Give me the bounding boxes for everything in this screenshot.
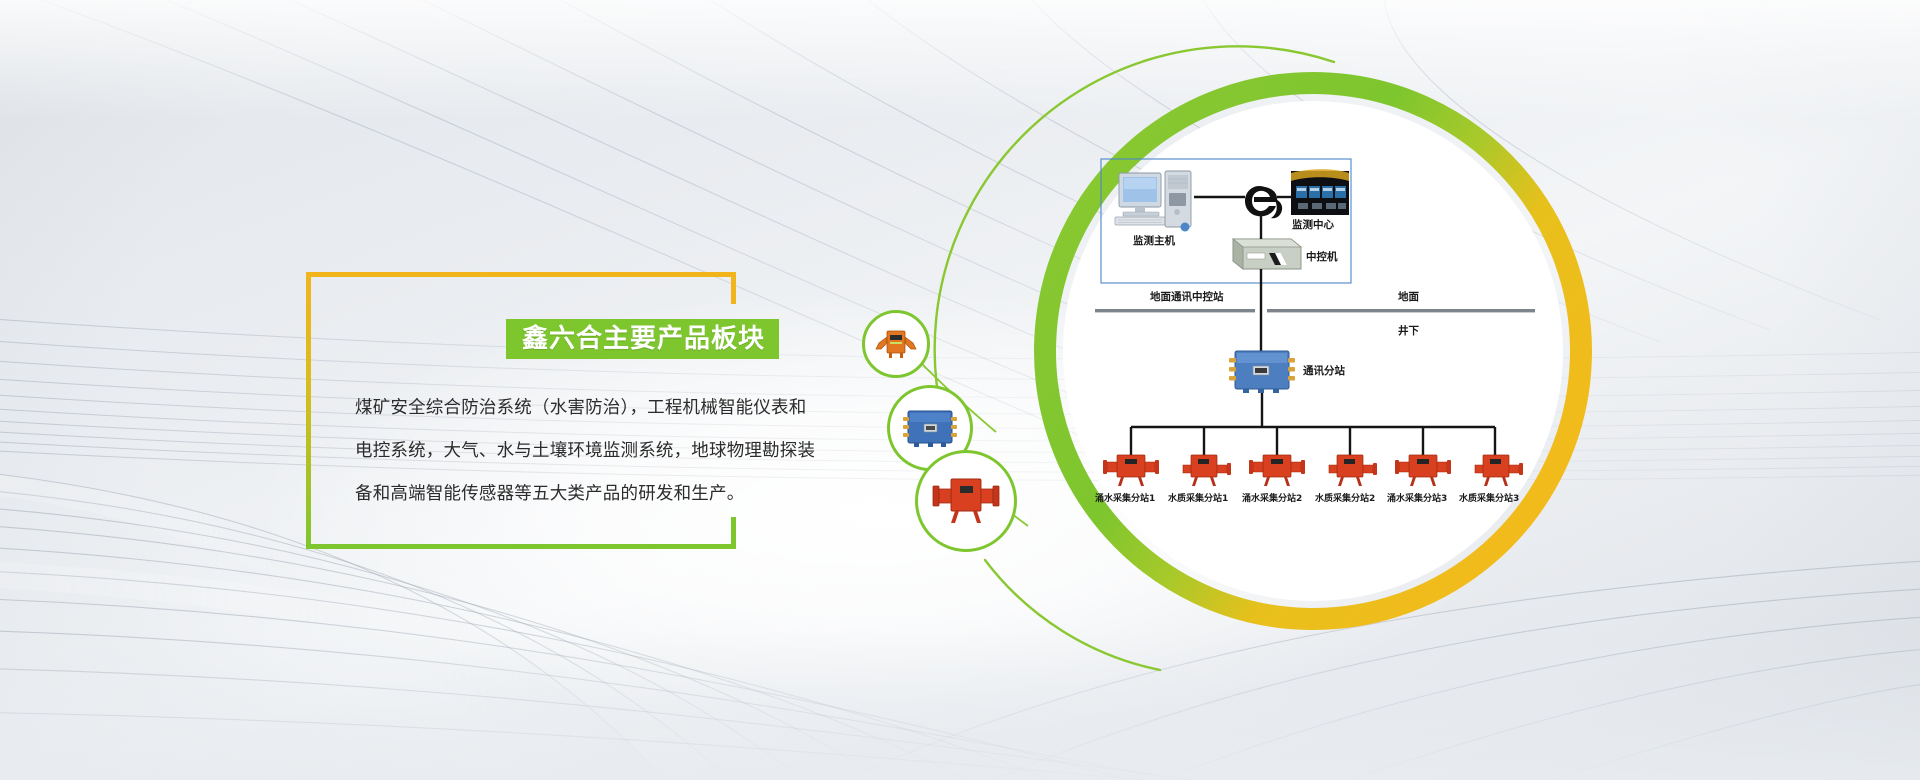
label-monitor-host: 监测主机 bbox=[1133, 233, 1175, 248]
label-substation-3: 涌水采集分站2 bbox=[1242, 491, 1302, 504]
panel-body-copy: 煤矿安全综合防治系统（水害防治），工程机械智能仪表和 电控系统，大气、水与土壤环… bbox=[355, 387, 885, 516]
page-title: 鑫六合主要产品板块 bbox=[522, 326, 765, 352]
body-line-1: 煤矿安全综合防治系统（水害防治），工程机械智能仪表和 bbox=[355, 387, 885, 430]
field-device-2 bbox=[1183, 455, 1231, 486]
label-central-control: 中控机 bbox=[1306, 249, 1338, 264]
central-control-icon bbox=[1233, 239, 1301, 269]
field-device-4 bbox=[1329, 455, 1377, 486]
blue-junction-box-icon bbox=[899, 405, 961, 451]
label-substation-4: 水质采集分站2 bbox=[1315, 491, 1375, 504]
banner-stage: 鑫六合主要产品板块 煤矿安全综合防治系统（水害防治），工程机械智能仪表和 电控系… bbox=[0, 0, 1920, 780]
field-device-6 bbox=[1475, 455, 1523, 486]
label-comm-substation: 通讯分站 bbox=[1303, 363, 1345, 378]
substation-bus bbox=[1131, 393, 1495, 455]
ground-divider bbox=[1095, 309, 1535, 312]
body-line-3: 备和高端智能传感器等五大类产品的研发和生产。 bbox=[355, 473, 885, 516]
label-surface-station: 地面通讯中控站 bbox=[1150, 289, 1224, 304]
monitor-host-icon bbox=[1115, 171, 1191, 232]
comm-substation-icon bbox=[1229, 351, 1295, 393]
label-substation-6: 水质采集分站3 bbox=[1459, 491, 1519, 504]
label-monitor-center: 监测中心 bbox=[1292, 217, 1334, 232]
label-substation-2: 水质采集分站1 bbox=[1168, 491, 1228, 504]
field-device-5 bbox=[1395, 455, 1451, 486]
thin-outer-arc-lower bbox=[985, 560, 1160, 670]
system-diagram-circle: 监测主机 监测中心 中控机 地面通讯中控站 地面 井下 通讯分站 涌水采集分站1… bbox=[910, 40, 1920, 740]
orange-sensor-device-icon bbox=[873, 327, 919, 361]
panel-title-banner: 鑫六合主要产品板块 bbox=[506, 319, 779, 359]
field-device-3 bbox=[1249, 455, 1305, 486]
product-bubble-red-flow-meter[interactable] bbox=[915, 450, 1017, 552]
label-substation-5: 涌水采集分站3 bbox=[1387, 491, 1447, 504]
body-line-2: 电控系统，大气、水与土壤环境监测系统，地球物理勘探装 bbox=[355, 430, 885, 473]
label-zone-surface: 地面 bbox=[1398, 289, 1419, 304]
product-intro-panel: 鑫六合主要产品板块 煤矿安全综合防治系统（水害防治），工程机械智能仪表和 电控系… bbox=[306, 272, 736, 549]
product-bubble-orange-sensor[interactable] bbox=[862, 310, 930, 378]
field-device-1 bbox=[1103, 455, 1159, 486]
internet-icon bbox=[1245, 186, 1282, 218]
label-zone-underground: 井下 bbox=[1398, 323, 1419, 338]
topology-diagram: 监测主机 监测中心 中控机 地面通讯中控站 地面 井下 通讯分站 涌水采集分站1… bbox=[1095, 155, 1535, 555]
surface-connectors bbox=[1194, 197, 1291, 351]
red-flow-meter-icon bbox=[929, 473, 1003, 529]
monitor-center-icon bbox=[1291, 169, 1349, 215]
label-substation-1: 涌水采集分站1 bbox=[1095, 491, 1155, 504]
